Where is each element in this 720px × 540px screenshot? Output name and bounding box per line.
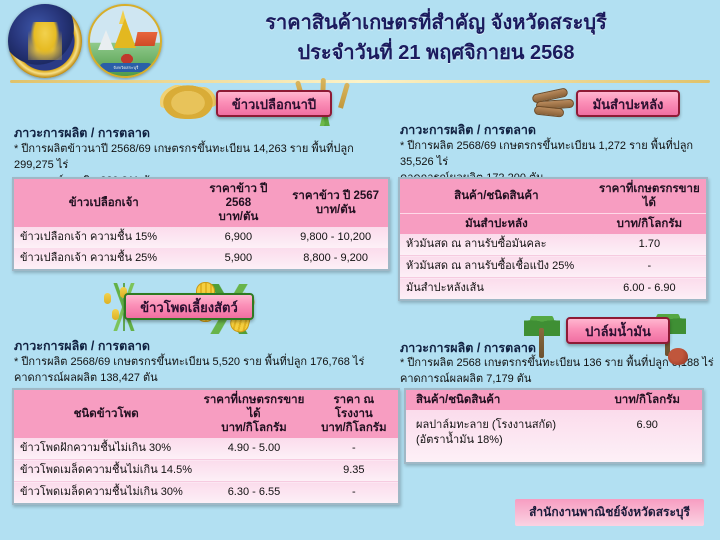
table-row: หัวมันสด ณ ลานรับซื้อมันคละ 1.70: [400, 234, 706, 256]
header-divider: [10, 80, 710, 83]
corn-th-factory-l2: บาท/กิโลกรัม: [321, 422, 386, 434]
table-row: ข้าวเปลือกเจ้า ความชื้น 25% 5,900 8,800 …: [14, 248, 388, 269]
rice-price-table: ข้าวเปลือกเจ้า ราคาข้าว ปี 2568 บาท/ตัน …: [12, 177, 390, 271]
footer-office-label: สำนักงานพาณิชย์จังหวัดสระบุรี: [515, 499, 704, 526]
corn-row-2-factory: -: [310, 482, 398, 504]
corn-row-2-name: ข้าวโพดเมล็ดความชื้นไม่เกิน 30%: [14, 482, 198, 504]
table-row: มันสำปะหลังเส้น 6.00 - 6.90: [400, 278, 706, 300]
rice-th-2567-l1: ราคาข้าว ปี 2567: [292, 190, 379, 202]
corn-note-line-1: * ปีการผลิต 2568/69 เกษตรกรขึ้นทะเบียน 5…: [14, 354, 400, 370]
stupa-shape-icon: [98, 30, 114, 50]
palm-price-table: สินค้า/ชนิดสินค้า บาท/กิโลกรัม ผลปาล์มทะ…: [404, 388, 704, 464]
pagoda-icon: [114, 18, 136, 48]
section-badge-rice: ข้าวเปลือกนาปี: [216, 90, 332, 117]
rice-th-2568-l1: ราคาข้าว ปี 2568: [209, 183, 267, 209]
palm-row-0-name-l2: (อัตราน้ำมัน 18%): [416, 434, 503, 446]
province-seal-icon: จังหวัดสระบุรี: [88, 4, 162, 78]
rice-th-2567-l2: บาท/ตัน: [316, 204, 356, 216]
table-row: หัวมันสด ณ ลานรับซื้อเชื้อแป้ง 25% -: [400, 256, 706, 278]
palm-th-unit: บาท/กิโลกรัม: [592, 390, 702, 410]
section-badge-corn: ข้าวโพดเลี้ยงสัตว์: [124, 293, 254, 320]
rice-grains-icon: [160, 83, 216, 119]
corn-row-2-farm: 6.30 - 6.55: [198, 482, 309, 504]
corn-price-table: ชนิดข้าวโพด ราคาที่เกษตรกรขายได้ บาท/กิโ…: [12, 388, 400, 505]
page-header: จังหวัดสระบุรี ราคาสินค้าเกษตรที่สำคัญ จ…: [0, 0, 720, 84]
palm-note-line-1: * ปีการผลิต 2568 เกษตรกรขึ้นทะเบียน 136 …: [400, 355, 714, 371]
table-row: ข้าวเปลือกเจ้า ความชื้น 15% 6,900 9,800 …: [14, 227, 388, 248]
corn-note: * ปีการผลิต 2568/69 เกษตรกรขึ้นทะเบียน 5…: [14, 354, 400, 386]
roof-icon: [135, 32, 158, 46]
corn-row-0-name: ข้าวโพดฝักความชื้นไม่เกิน 30%: [14, 438, 198, 460]
palm-note: * ปีการผลิต 2568 เกษตรกรขึ้นทะเบียน 136 …: [400, 355, 714, 387]
palm-row-0-price: 6.90: [592, 410, 702, 462]
corn-row-1-farm: [198, 460, 309, 482]
cassava-status-label: ภาวะการผลิต / การตลาด: [400, 120, 536, 140]
rice-note-line-1: * ปีการผลิตข้าวนาปี 2568/69 เกษตรกรขึ้นท…: [14, 141, 390, 173]
cassava-row-1-name: หัวมันสด ณ ลานรับซื้อเชื้อแป้ง 25%: [400, 256, 593, 278]
cassava-row-2-price: 6.00 - 6.90: [593, 278, 706, 300]
palm-row-0-name-l1: ผลปาล์มทะลาย (โรงงานสกัด): [416, 419, 556, 431]
rice-status-label: ภาวะการผลิต / การตลาด: [14, 123, 150, 143]
cassava-th-product: สินค้า/ชนิดสินค้า: [400, 179, 593, 214]
cassava-note-line-1: * ปีการผลิต 2568/69 เกษตรกรขึ้นทะเบียน 1…: [400, 138, 714, 170]
ministry-emblem-icon: [8, 4, 82, 78]
table-row: ข้าวโพดฝักความชื้นไม่เกิน 30% 4.90 - 5.0…: [14, 438, 398, 460]
rice-row-1-price-2568: 5,900: [194, 248, 284, 269]
rice-row-0-price-2567: 9,800 - 10,200: [283, 227, 388, 248]
cassava-th-subject: มันสำปะหลัง: [400, 214, 593, 235]
corn-row-1-name: ข้าวโพดเมล็ดความชื้นไม่เกิน 14.5%: [14, 460, 198, 482]
cassava-row-2-name: มันสำปะหลังเส้น: [400, 278, 593, 300]
title-line-2: ประจำวันที่ 21 พฤศจิกายน 2568: [172, 38, 700, 68]
corn-status-label: ภาวะการผลิต / การตลาด: [14, 336, 150, 356]
cassava-th-farmprice: ราคาที่เกษตรกรขายได้: [593, 179, 706, 214]
corn-note-line-2: คาดการณ์ผลผลิต 138,427 ตัน: [14, 370, 400, 386]
cassava-row-0-price: 1.70: [593, 234, 706, 256]
rice-row-1-price-2567: 8,800 - 9,200: [283, 248, 388, 269]
rice-th-type: ข้าวเปลือกเจ้า: [14, 179, 194, 227]
province-ribbon-label: จังหวัดสระบุรี: [100, 63, 152, 72]
rice-row-1-name: ข้าวเปลือกเจ้า ความชื้น 25%: [14, 248, 194, 269]
rice-row-0-price-2568: 6,900: [194, 227, 284, 248]
title-line-1: ราคาสินค้าเกษตรที่สำคัญ จังหวัดสระบุรี: [172, 8, 700, 38]
rice-row-0-name: ข้าวเปลือกเจ้า ความชื้น 15%: [14, 227, 194, 248]
corn-th-farm-l1: ราคาที่เกษตรกรขายได้: [204, 394, 305, 420]
rice-th-2568-l2: บาท/ตัน: [218, 211, 258, 223]
table-row: ผลปาล์มทะลาย (โรงงานสกัด) (อัตราน้ำมัน 1…: [406, 410, 702, 462]
palm-note-line-2: คาดการณ์ผลผลิต 7,179 ตัน: [400, 371, 714, 387]
cassava-price-table: สินค้า/ชนิดสินค้า ราคาที่เกษตรกรขายได้ ม…: [398, 177, 708, 301]
table-row: ข้าวโพดเมล็ดความชื้นไม่เกิน 30% 6.30 - 6…: [14, 482, 398, 504]
corn-row-1-factory: 9.35: [310, 460, 398, 482]
cassava-row-0-name: หัวมันสด ณ ลานรับซื้อมันคละ: [400, 234, 593, 256]
corn-th-type: ชนิดข้าวโพด: [14, 390, 198, 438]
corn-row-0-farm: 4.90 - 5.00: [198, 438, 309, 460]
corn-row-0-factory: -: [310, 438, 398, 460]
section-badge-cassava: มันสำปะหลัง: [576, 90, 680, 117]
corn-th-factory-l1: ราคา ณ โรงงาน: [334, 394, 375, 420]
cassava-th-unit: บาท/กิโลกรัม: [593, 214, 706, 235]
corn-th-farm-l2: บาท/กิโลกรัม: [221, 422, 286, 434]
section-badge-palm: ปาล์มน้ำมัน: [566, 317, 670, 344]
cassava-row-1-price: -: [593, 256, 706, 278]
cassava-root-icon: [530, 88, 578, 116]
table-row: ข้าวโพดเมล็ดความชื้นไม่เกิน 14.5% 9.35: [14, 460, 398, 482]
page-title: ราคาสินค้าเกษตรที่สำคัญ จังหวัดสระบุรี ป…: [172, 8, 700, 68]
palm-th-product: สินค้า/ชนิดสินค้า: [406, 390, 592, 410]
garuda-icon: [120, 53, 134, 63]
